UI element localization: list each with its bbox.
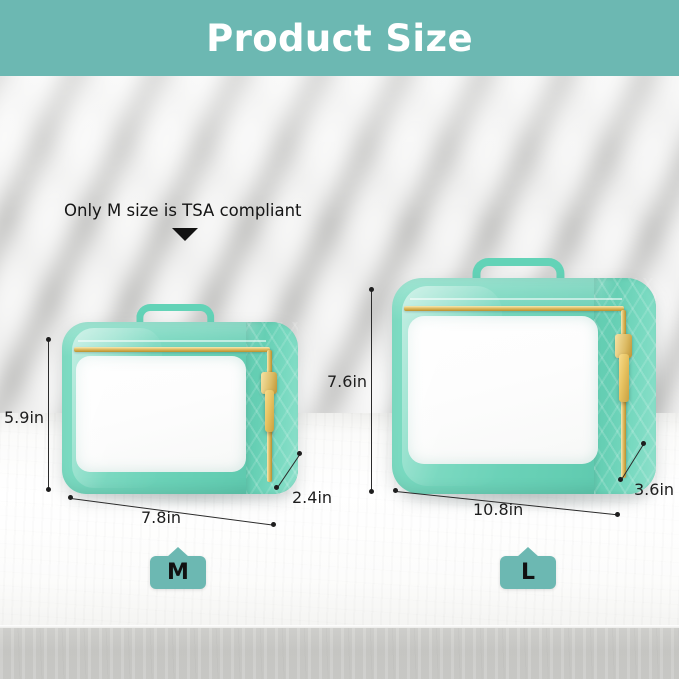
- header-banner: Product Size: [0, 0, 679, 76]
- dim-label-height-large: 7.6in: [327, 372, 367, 391]
- dim-label-width-medium: 7.8in: [141, 508, 181, 527]
- triangle-down-icon: [172, 228, 198, 241]
- bag-clear-window-large: [408, 316, 598, 464]
- bag-zipper-pull-medium: [265, 390, 274, 432]
- product-bag-large: [392, 258, 656, 498]
- bag-zipper-top-large: [404, 306, 624, 311]
- dim-label-height-medium: 5.9in: [4, 408, 44, 427]
- dim-label-depth-large: 3.6in: [634, 480, 674, 499]
- badge-notch-medium: [167, 547, 189, 557]
- dim-dot-depth-large-top: [641, 441, 646, 446]
- badge-notch-large: [517, 547, 539, 557]
- dim-dot-height-large-bottom: [369, 489, 374, 494]
- bag-lid-seam-large: [410, 298, 622, 300]
- size-badge-large-box: L: [500, 556, 556, 589]
- product-size-image: Product Size: [0, 0, 679, 679]
- dim-dot-width-large-right: [615, 512, 620, 517]
- dim-dot-width-medium-right: [271, 522, 276, 527]
- dim-dot-height-large-top: [369, 287, 374, 292]
- size-badge-medium: M: [150, 556, 206, 589]
- size-badge-large: L: [500, 556, 556, 589]
- bag-lid-seam-medium: [78, 340, 266, 342]
- dim-label-width-large: 10.8in: [473, 500, 523, 519]
- size-badge-medium-label: M: [167, 560, 189, 585]
- bag-zipper-top-medium: [74, 347, 270, 352]
- dim-dot-depth-large-bottom: [618, 477, 623, 482]
- tsa-compliance-note: Only M size is TSA compliant: [64, 201, 302, 220]
- product-bag-medium: [62, 304, 298, 496]
- bag-clear-window-medium: [76, 356, 246, 472]
- size-badge-large-label: L: [521, 560, 535, 585]
- size-badge-medium-box: M: [150, 556, 206, 589]
- stone-ledge-front-face: [0, 628, 679, 679]
- dim-line-height-medium: [48, 340, 49, 490]
- dim-dot-height-medium-bottom: [46, 487, 51, 492]
- page-title: Product Size: [0, 0, 679, 76]
- dim-label-depth-medium: 2.4in: [292, 488, 332, 507]
- dim-dot-depth-medium-bottom: [274, 485, 279, 490]
- dim-dot-depth-medium-top: [297, 451, 302, 456]
- dim-dot-width-medium-left: [68, 495, 73, 500]
- product-photo-scene: Only M size is TSA compliant 5.9in 7.8in…: [0, 76, 679, 679]
- dim-line-height-large: [371, 290, 372, 492]
- dim-dot-height-medium-top: [46, 337, 51, 342]
- dim-dot-width-large-left: [393, 488, 398, 493]
- bag-zipper-pull-large: [619, 354, 629, 402]
